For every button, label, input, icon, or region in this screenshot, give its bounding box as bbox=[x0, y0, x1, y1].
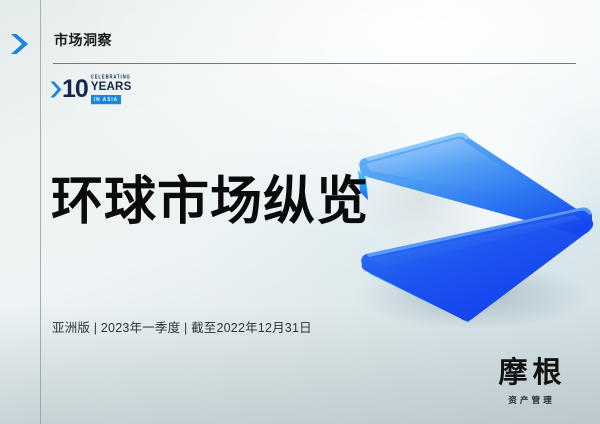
brand-logo: 摩根 资产管理 bbox=[478, 358, 582, 406]
anniversary-years-label: YEARS bbox=[91, 82, 132, 94]
header-divider bbox=[53, 63, 576, 64]
subtitle-meta: 亚洲版 | 2023年一季度 | 截至2022年12月31日 bbox=[52, 317, 312, 336]
anniversary-text-block: CELEBRATING YEARS IN ASIA bbox=[91, 76, 132, 102]
anniversary-celebrating-label: CELEBRATING bbox=[91, 75, 132, 80]
anniversary-number: 10 bbox=[62, 77, 88, 102]
anniversary-logo: 10 CELEBRATING YEARS IN ASIA bbox=[50, 74, 131, 104]
anniversary-mark: 10 bbox=[50, 77, 88, 102]
chevron-3d-graphic bbox=[352, 78, 600, 328]
left-vertical-divider bbox=[40, 0, 41, 424]
anniversary-region-badge: IN ASIA bbox=[91, 95, 121, 104]
page-title: 环球市场纵览 bbox=[51, 176, 369, 228]
page-eyebrow-title: 市场洞察 bbox=[54, 30, 112, 50]
slide-root: 市场洞察 10 CELEBRATING YEARS IN ASIA bbox=[0, 0, 600, 424]
chevron-right-icon bbox=[8, 33, 32, 55]
brand-tagline: 资产管理 bbox=[478, 394, 582, 406]
brand-name: 摩根 bbox=[478, 358, 582, 387]
